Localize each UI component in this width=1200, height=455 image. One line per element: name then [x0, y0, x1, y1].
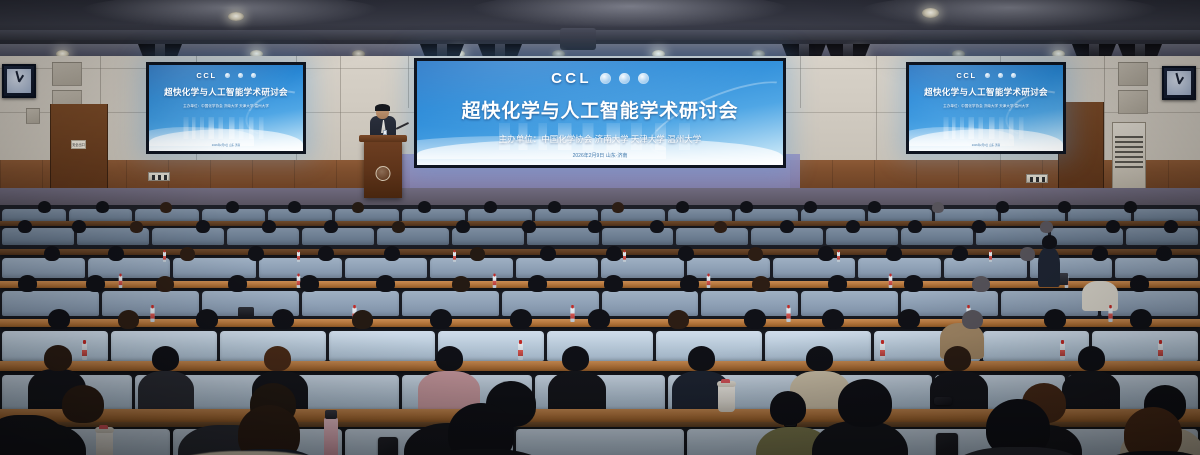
ceiling [0, 0, 1200, 62]
water-bottle [880, 343, 885, 360]
water-bottle [150, 308, 154, 322]
ceiling-projector [560, 28, 596, 50]
right-screen-title: 超快化学与人工智能学术研讨会 [924, 86, 1048, 98]
podium-emblem-icon [376, 166, 391, 181]
attendee-head [62, 385, 104, 423]
attendee-head [448, 403, 514, 455]
seal-2-icon [619, 73, 630, 84]
seal-1-icon [985, 73, 990, 78]
seal-2-icon [238, 73, 243, 78]
seal-3-icon [1011, 73, 1016, 78]
air-conditioner-unit [1112, 122, 1146, 194]
water-bottle [1060, 343, 1065, 360]
exit-sign-left: 安全出口 [71, 140, 86, 149]
podium [364, 140, 402, 198]
standing-attendee [1038, 247, 1060, 287]
main-screen-brand: CCL [551, 70, 592, 87]
left-screen-title: 超快化学与人工智能学术研讨会 [164, 86, 288, 98]
seal-3-icon [251, 73, 256, 78]
speaker-hair [375, 104, 390, 111]
wall-niche [1118, 62, 1148, 86]
paper-cup [96, 431, 113, 455]
water-bottle [570, 308, 574, 322]
wall-niche [52, 62, 82, 86]
phone-on-desk [378, 437, 398, 455]
phone-on-desk [936, 433, 958, 455]
main-screen-organizers: 主办单位：中国化学协会 济南大学 天津大学 温州大学 [499, 133, 702, 145]
wall-clock-right [1162, 66, 1196, 100]
left-screen-organizers: 主办单位：中国化学协会 济南大学 天津大学 温州大学 [183, 104, 269, 109]
water-bottle [82, 343, 87, 360]
side-display-right: CCL 超快化学与人工智能学术研讨会 主办单位：中国化学协会 济南大学 天津大学… [906, 62, 1066, 154]
wall-clock-left [2, 64, 36, 98]
seal-2-icon [998, 73, 1003, 78]
left-screen-brand: CCL [196, 71, 216, 80]
right-screen-organizers: 主办单位：中国化学协会 济南大学 天津大学 温州大学 [943, 104, 1029, 109]
water-bottle [1158, 343, 1163, 360]
left-screen-brand-row: CCL [196, 71, 255, 80]
main-screen-title: 超快化学与人工智能学术研讨会 [462, 96, 739, 123]
wall-vent [26, 108, 40, 124]
wall-outlet-left [148, 172, 170, 181]
phone-on-desk [934, 397, 952, 405]
right-screen-brand: CCL [956, 71, 976, 80]
attendee-head [238, 405, 300, 455]
left-screen-date: 2026年2月9日 山东·济南 [149, 143, 303, 147]
side-door-left[interactable]: 安全出口 [50, 104, 108, 194]
attendee-head [838, 379, 892, 427]
standing-attendee-head [1042, 235, 1057, 249]
water-bottle [1108, 308, 1112, 322]
paper-cup [718, 385, 735, 412]
wall-outlet-right [1026, 174, 1048, 183]
side-display-left: CCL 超快化学与人工智能学术研讨会 主办单位：中国化学协会 济南大学 天津大学… [146, 62, 306, 154]
conference-hall-photo: 安全出口 CCL 超快化学与人工智能学术研讨会 主办单位：中国化学协会 济南大学… [0, 0, 1200, 455]
main-screen-brand-row: CCL [551, 70, 649, 87]
main-presentation-screen: CCL 超快化学与人工智能学术研讨会 主办单位：中国化学协会 济南大学 天津大学… [414, 58, 786, 168]
pink-thermos [324, 417, 338, 455]
right-screen-date: 2026年2月9日 山东·济南 [909, 143, 1063, 147]
seal-3-icon [638, 73, 649, 84]
wall-niche [1118, 90, 1148, 114]
right-screen-brand-row: CCL [956, 71, 1015, 80]
seal-1-icon [600, 73, 611, 84]
main-screen-date: 2026年2月9日 山东·济南 [417, 152, 783, 159]
audience-area [0, 205, 1200, 455]
camera [238, 307, 254, 318]
water-bottle [786, 308, 790, 322]
podium-top [359, 135, 407, 142]
seal-1-icon [225, 73, 230, 78]
water-bottle [518, 343, 523, 360]
